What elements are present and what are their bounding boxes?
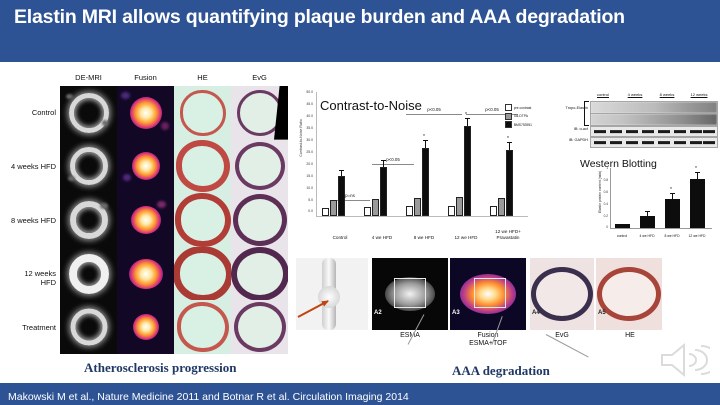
eq-xlabel-8we: 8 we HFD: [659, 234, 685, 238]
aaa-caption-a4: EvG: [530, 332, 594, 340]
bar-group-4we: [364, 120, 400, 216]
blot-label-gapdh: IB: GAPDH: [569, 138, 588, 142]
cnr-ytick-10: 10.0: [296, 186, 313, 190]
wb-group-4-weeks: 4 weeks: [622, 92, 648, 97]
cell-evg-4-weeks: [231, 140, 288, 194]
citation-text: Makowski M et al., Nature Medicine 2011 …: [8, 391, 409, 403]
cnr-y-axis: [316, 92, 317, 216]
aaa-panel-a4: A4: [530, 258, 594, 330]
bar-control-pre: [322, 208, 329, 216]
bar-8we-gd: [414, 198, 421, 216]
blot-label-alpha-act: IB: α-act: [574, 127, 588, 131]
cell-de-mri-12-weeks: [60, 247, 117, 301]
slide-title-bar: Elastin MRI allows quantifying plaque bu…: [0, 0, 720, 62]
bar-8we-pre: [406, 206, 413, 216]
bar-prava-pre: [490, 206, 497, 216]
cell-fusion-control: [117, 86, 174, 140]
elastin-protein-content-chart: Elastin protein content (ratio) 1 0.8 0.…: [596, 168, 716, 248]
cnr-ytick-20: 20.0: [296, 162, 313, 166]
eq-bar-12we: [690, 179, 705, 228]
sig-label-3: p<0.05: [406, 107, 462, 112]
cell-de-mri-treatment: [60, 300, 117, 354]
cell-fusion-12-weeks: [117, 247, 174, 301]
blot-row-alpha-act: [590, 126, 718, 137]
bar-control-gd: [330, 200, 337, 216]
aaa-degradation-panel: A2 ESMA A3 Fusion ESMA+TOF A4 EvG A5 HE: [296, 258, 662, 354]
legend-swatch-bms: [505, 121, 512, 128]
bar-group-12we: *: [448, 120, 484, 216]
bar-group-8we: *: [406, 120, 442, 216]
cell-fusion-4-weeks: [117, 140, 174, 194]
cell-he-12-weeks: [174, 247, 231, 301]
cell-evg-12-weeks: [231, 247, 288, 301]
cnr-ytick-30: 30.0: [296, 138, 313, 142]
cell-he-4-weeks: [174, 140, 231, 194]
eq-y-axis: [610, 168, 611, 228]
contrast-to-noise-chart: Contrast-to-Noise Contrast-to-Noise Rati…: [296, 88, 534, 248]
cell-evg-treatment: [231, 300, 288, 354]
speaker-icon[interactable]: [658, 341, 710, 379]
grid-column-header-fusion: Fusion: [117, 73, 174, 82]
aaa-tag-a4: A4: [532, 310, 540, 316]
eq-ytick-0: 0: [596, 225, 608, 229]
grid-column-header-de-mri: DE-MRI: [60, 73, 117, 82]
aaa-tag-a5: A5: [598, 310, 606, 316]
cnr-ytick-50: 50.0: [296, 90, 313, 94]
aaa-panel-a2: A2: [372, 258, 448, 330]
cnr-ytick-25: 25.0: [296, 150, 313, 154]
cell-he-control: [174, 86, 231, 140]
legend-item-bms753951: BMS753951: [505, 121, 532, 128]
grid-row-label-8-weeks-hfd: 8 weeks HFD: [8, 216, 56, 225]
cnr-ytick-40: 40.0: [296, 114, 313, 118]
eq-x-axis: [610, 228, 712, 229]
eq-ytick-1: 1: [596, 166, 608, 170]
legend-swatch-gd: [505, 113, 512, 120]
eq-ytick-08: 0.8: [596, 178, 608, 182]
slide: Elastin MRI allows quantifying plaque bu…: [0, 0, 720, 405]
sig-bracket-3: [406, 114, 462, 115]
cnr-ytick-15: 15.0: [296, 174, 313, 178]
bar-group-12we-prava: *: [490, 120, 526, 216]
atherosclerosis-image-grid: DE-MRI Fusion HE EvG Control 4 weeks HFD…: [60, 86, 288, 354]
bar-control-bms: [338, 176, 345, 216]
aaa-panel-a3: A3: [450, 258, 526, 330]
eq-ytick-02: 0.2: [596, 214, 608, 218]
cell-evg-8-weeks: [231, 193, 288, 247]
blot-row-gapdh: [590, 137, 718, 148]
eq-ytick-06: 0.6: [596, 190, 608, 194]
caption-atherosclerosis-progression: Atherosclerosis progression: [84, 360, 237, 376]
cell-he-8-weeks: [174, 193, 231, 247]
cnr-legend: pre contrast Gd-DTPA BMS753951: [505, 104, 532, 130]
aaa-panel-a5: A5: [596, 258, 662, 330]
bar-4we-pre: [364, 207, 371, 216]
legend-label-gd: Gd-DTPA: [514, 114, 528, 118]
aaa-panel-a1: [296, 258, 368, 330]
bar-group-control: [322, 120, 358, 216]
wb-group-12-weeks: 12 weeks: [686, 92, 712, 97]
grid-row-label-12-weeks-hfd: 12 weeks HFD: [8, 269, 56, 287]
cnr-xlabel-prava: 12 we HFD+ Pravastatin: [481, 229, 535, 240]
bar-prava-bms: [506, 150, 513, 216]
citation-bar: Makowski M et al., Nature Medicine 2011 …: [0, 383, 720, 405]
eq-bar-8we: [665, 199, 680, 228]
cell-de-mri-4-weeks: [60, 140, 117, 194]
grid-row-label-control: Control: [8, 108, 56, 117]
bar-4we-bms: [380, 167, 387, 216]
cnr-ytick-5: 5.0: [296, 198, 313, 202]
eq-bar-control: [615, 224, 630, 228]
aaa-tag-a3: A3: [452, 310, 460, 316]
legend-label-pre: pre contrast: [514, 106, 531, 110]
eq-bar-4we: [640, 216, 655, 228]
bar-8we-bms: [422, 148, 429, 216]
eq-xlabel-4we: 4 we HFD: [634, 234, 660, 238]
legend-item-pre-contrast: pre contrast: [505, 104, 532, 111]
cnr-ytick-0: 0.0: [296, 209, 313, 213]
grid-column-header-evg: EvG: [231, 73, 288, 82]
cnr-x-axis: [316, 216, 528, 217]
bar-4we-gd: [372, 199, 379, 216]
bar-12we-pre: [448, 206, 455, 216]
wb-group-8-weeks: 8 weeks: [654, 92, 680, 97]
legend-item-gd-dtpa: Gd-DTPA: [505, 113, 532, 120]
bar-12we-gd: [456, 197, 463, 216]
wb-group-control: control: [590, 92, 616, 97]
cell-he-treatment: [174, 300, 231, 354]
cnr-ytick-45: 45.0: [296, 102, 313, 106]
bar-12we-bms: [464, 126, 471, 216]
legend-label-bms: BMS753951: [514, 123, 532, 127]
grid-row-label-treatment: Treatment: [8, 323, 56, 332]
bar-prava-gd: [498, 198, 505, 216]
eq-ytick-04: 0.4: [596, 202, 608, 206]
grid-row-label-4-weeks-hfd: 4 weeks HFD: [8, 162, 56, 171]
blot-row-tropoelastin-2: [590, 113, 718, 126]
aaa-tag-a2: A2: [374, 310, 382, 316]
eq-xlabel-control: control: [609, 234, 635, 238]
grid-column-header-he: HE: [174, 73, 231, 82]
aaa-caption-a3: Fusion ESMA+TOF: [446, 332, 530, 349]
blot-label-tropo-elastin: Tropo-Elastin: [566, 106, 588, 110]
legend-swatch-pre: [505, 104, 512, 111]
page-title: Elastin MRI allows quantifying plaque bu…: [14, 5, 708, 30]
cell-evg-control: [231, 86, 288, 140]
cell-fusion-8-weeks: [117, 193, 174, 247]
cell-fusion-treatment: [117, 300, 174, 354]
cell-de-mri-control: [60, 86, 117, 140]
cnr-ytick-35: 35.0: [296, 126, 313, 130]
aaa-caption-a5: HE: [598, 332, 662, 340]
eq-xlabel-12we: 12 we HFD: [684, 234, 710, 238]
caption-aaa-degradation: AAA degradation: [452, 363, 550, 379]
cell-de-mri-8-weeks: [60, 193, 117, 247]
